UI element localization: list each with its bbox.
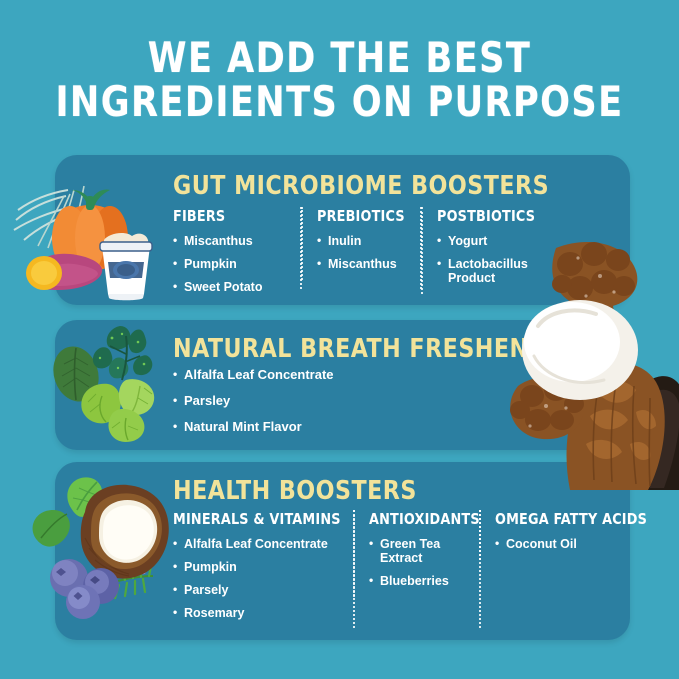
- dog-paws-illustration: [500, 230, 679, 490]
- mint-leaves-shape: [81, 379, 154, 442]
- column-head-minerals-vitamins: MINERALS & VITAMINS: [173, 510, 344, 528]
- list-item: Green Tea Extract: [369, 537, 452, 565]
- item-list-prebiotics: Inulin Miscanthus: [317, 234, 421, 271]
- list-item: Sweet Potato: [173, 280, 301, 294]
- item-list-antioxidants: Green Tea Extract Blueberries: [369, 537, 479, 588]
- column-divider: [420, 207, 422, 289]
- list-item: Alfalfa Leaf Concentrate: [173, 368, 334, 382]
- coconut-shape: [81, 485, 169, 579]
- column-divider: [300, 207, 302, 289]
- column-head-fibers: FIBERS: [173, 207, 295, 225]
- section-title-health-boosters: HEALTH BOOSTERS: [173, 476, 417, 506]
- list-item: Miscanthus: [317, 257, 421, 271]
- item-list-breath-fresheners: Alfalfa Leaf Concentrate Parsley Natural…: [173, 368, 334, 446]
- column-minerals-vitamins: MINERALS & VITAMINS Alfalfa Leaf Concent…: [173, 510, 353, 629]
- sweet-potato-shape: [26, 254, 102, 290]
- list-item: Pumpkin: [173, 257, 301, 271]
- parsley-shape: [93, 326, 152, 380]
- pumpkin-sweet-potato-yogurt-illustration: [8, 160, 158, 305]
- list-item: Coconut Oil: [495, 537, 629, 551]
- yogurt-cup-shape: [100, 233, 152, 300]
- column-head-postbiotics: POSTBIOTICS: [437, 207, 555, 225]
- title-line-2: INGREDIENTS ON PURPOSE: [24, 80, 655, 124]
- column-fibers: FIBERS Miscanthus Pumpkin Sweet Potato: [173, 207, 301, 303]
- list-item: Parsely: [173, 583, 353, 597]
- column-antioxidants: ANTIOXIDANTS Green Tea Extract Blueberri…: [353, 510, 479, 597]
- list-item: Miscanthus: [173, 234, 301, 248]
- title-line-1: WE ADD THE BEST: [24, 36, 655, 80]
- column-head-omega-fatty-acids: OMEGA FATTY ACIDS: [495, 510, 622, 528]
- health-columns: MINERALS & VITAMINS Alfalfa Leaf Concent…: [173, 510, 633, 629]
- list-item: Rosemary: [173, 606, 353, 620]
- column-head-prebiotics: PREBIOTICS: [317, 207, 416, 225]
- column-prebiotics: PREBIOTICS Inulin Miscanthus: [301, 207, 421, 280]
- white-treat-shape: [522, 300, 638, 400]
- item-list-omega-fatty-acids: Coconut Oil: [495, 537, 629, 551]
- item-list-minerals-vitamins: Alfalfa Leaf Concentrate Pumpkin Parsely…: [173, 537, 353, 620]
- infographic-poster: WE ADD THE BEST INGREDIENTS ON PURPOSE G…: [0, 0, 679, 679]
- column-divider: [479, 510, 481, 628]
- herbs-mint-parsley-illustration: [48, 318, 178, 448]
- item-list-fibers: Miscanthus Pumpkin Sweet Potato: [173, 234, 301, 294]
- column-head-antioxidants: ANTIOXIDANTS: [369, 510, 474, 528]
- coconut-blueberry-illustration: [25, 468, 180, 618]
- list-item: Blueberries: [369, 574, 479, 588]
- list-item: Pumpkin: [173, 560, 353, 574]
- column-divider: [353, 510, 355, 628]
- section-title-gut-microbiome: GUT MICROBIOME BOOSTERS: [173, 171, 549, 201]
- column-omega-fatty-acids: OMEGA FATTY ACIDS Coconut Oil: [479, 510, 629, 560]
- page-title: WE ADD THE BEST INGREDIENTS ON PURPOSE: [0, 36, 679, 124]
- list-item: Natural Mint Flavor: [173, 420, 334, 434]
- list-item: Parsley: [173, 394, 334, 408]
- list-item: Alfalfa Leaf Concentrate: [173, 537, 353, 551]
- list-item: Inulin: [317, 234, 421, 248]
